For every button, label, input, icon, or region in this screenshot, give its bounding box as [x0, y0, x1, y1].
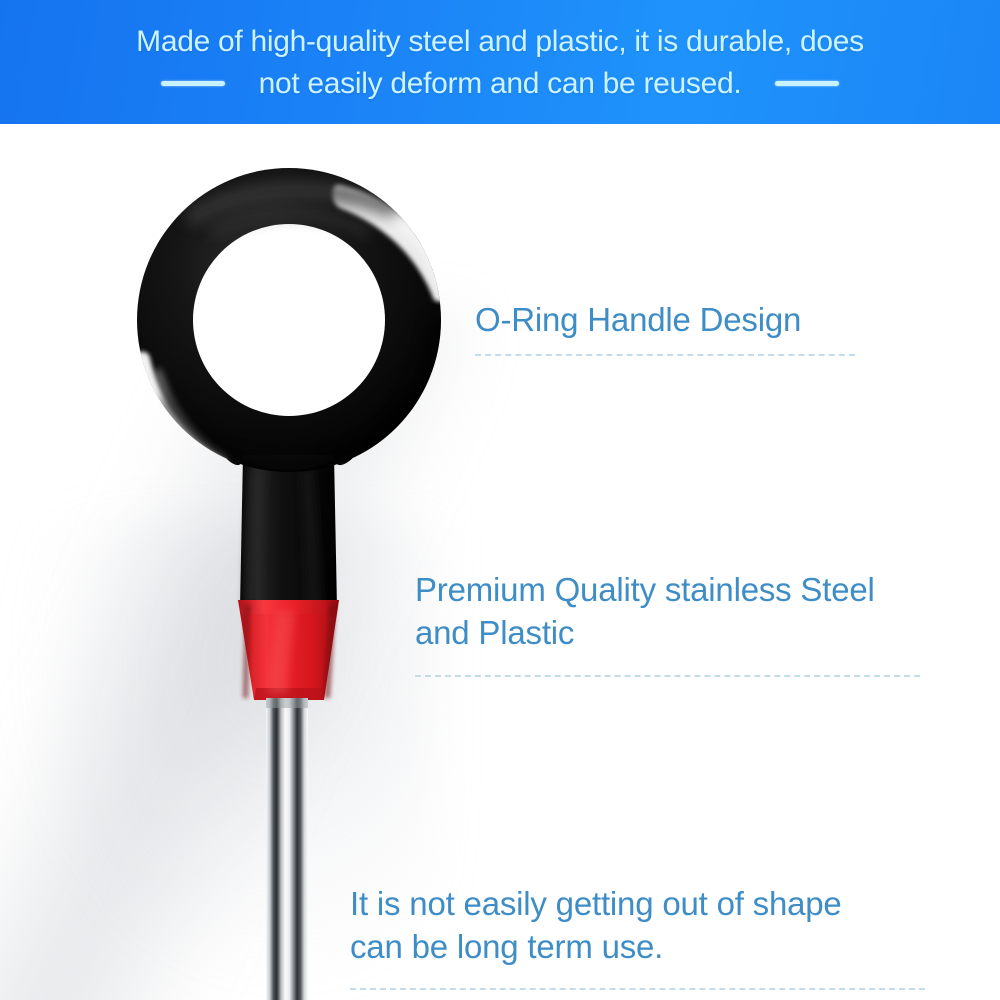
callout-text: Premium Quality stainless Steel and Plas…	[415, 568, 921, 654]
callout-o-ring-handle-design: O-Ring Handle Design	[475, 298, 857, 356]
callout-not-easily-out-of-shape: It is not easily getting out of shape ca…	[350, 882, 926, 990]
callout-text: O-Ring Handle Design	[475, 298, 857, 341]
callout-dashed-rule	[350, 988, 925, 990]
banner-line-1: Made of high-quality steel and plastic, …	[0, 21, 1000, 62]
banner-text-line-2: not easily deform and can be reused.	[259, 63, 742, 104]
headline-banner: Made of high-quality steel and plastic, …	[0, 0, 1000, 124]
banner-line-2: not easily deform and can be reused.	[0, 63, 1000, 104]
red-ferrule	[238, 600, 339, 700]
callout-dashed-rule	[475, 354, 855, 356]
banner-rule-left-icon	[161, 81, 225, 86]
callout-dashed-rule	[415, 675, 920, 677]
callout-text: It is not easily getting out of shape ca…	[350, 882, 926, 968]
callout-premium-quality-material: Premium Quality stainless Steel and Plas…	[415, 568, 921, 677]
handle-neck	[240, 455, 337, 608]
product-illustration	[0, 0, 1000, 1000]
steel-shaft	[266, 698, 308, 1000]
o-ring-handle	[136, 168, 449, 475]
banner-text-line-1: Made of high-quality steel and plastic, …	[136, 21, 864, 62]
product-feature-image: Made of high-quality steel and plastic, …	[0, 0, 1000, 1000]
banner-rule-right-icon	[775, 81, 839, 86]
